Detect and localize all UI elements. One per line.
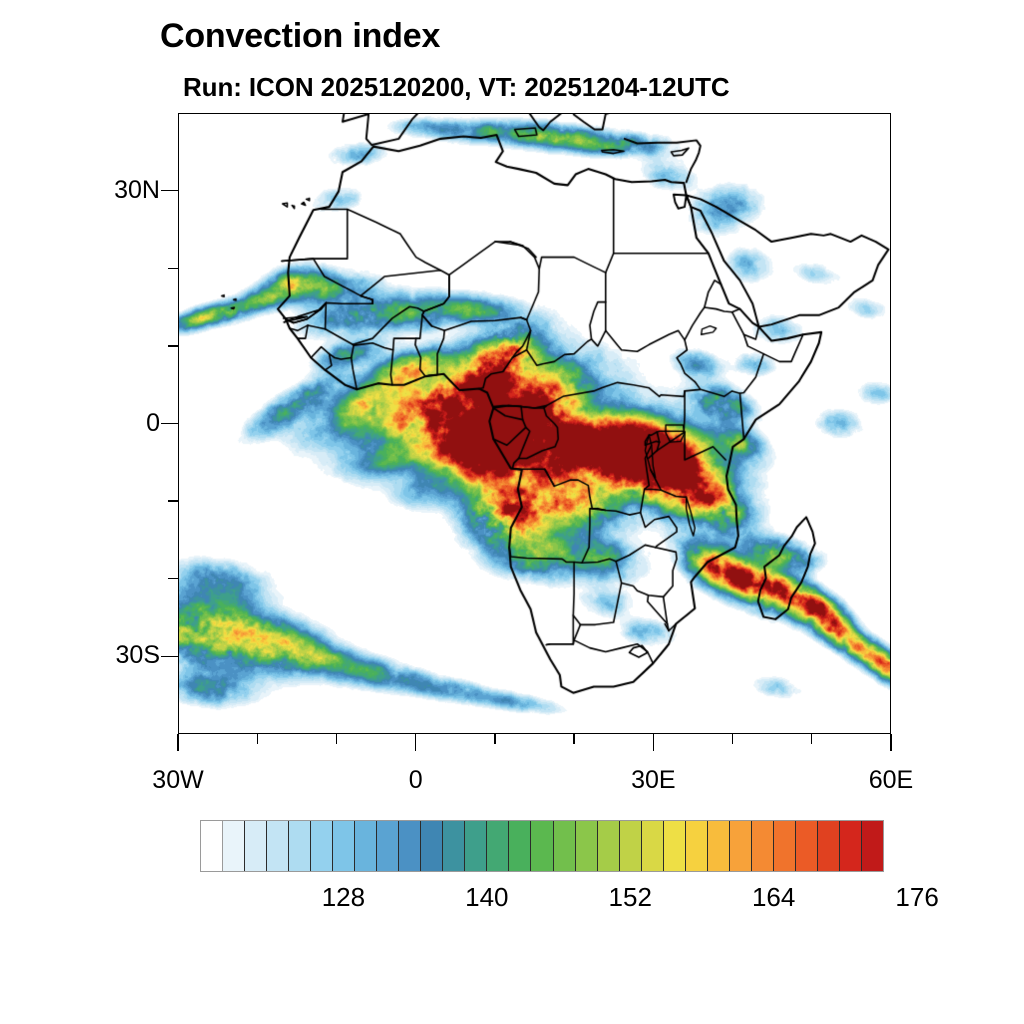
y-axis-label: 0 xyxy=(60,409,160,438)
colorbar-cell xyxy=(311,821,333,871)
y-tick-major xyxy=(161,423,178,425)
colorbar-cell xyxy=(201,821,223,871)
colorbar-cell xyxy=(840,821,862,871)
colorbar-tick-label: 128 xyxy=(322,882,365,913)
x-tick-minor xyxy=(336,734,337,744)
colorbar-cell xyxy=(333,821,355,871)
colorbar-cell xyxy=(752,821,774,871)
figure-root: Convection index Run: ICON 2025120200, V… xyxy=(0,0,1024,1024)
colorbar-cell xyxy=(443,821,465,871)
y-tick-minor xyxy=(168,268,178,269)
colorbar xyxy=(200,820,884,872)
x-tick-major xyxy=(415,734,417,751)
colorbar-cell xyxy=(245,821,267,871)
colorbar-cell xyxy=(399,821,421,871)
convection-index-raster xyxy=(179,114,890,733)
colorbar-cell xyxy=(730,821,752,871)
colorbar-cell xyxy=(598,821,620,871)
colorbar-cell xyxy=(642,821,664,871)
x-tick-major xyxy=(890,734,892,751)
x-tick-major xyxy=(177,734,179,751)
colorbar-cell xyxy=(465,821,487,871)
colorbar-cell xyxy=(554,821,576,871)
y-axis-label: 30N xyxy=(60,176,160,205)
y-tick-minor xyxy=(168,500,178,501)
colorbar-cell xyxy=(774,821,796,871)
colorbar-cell xyxy=(487,821,509,871)
y-tick-minor xyxy=(168,345,178,346)
y-tick-minor xyxy=(168,578,178,579)
x-tick-minor xyxy=(494,734,495,744)
y-tick-major xyxy=(161,656,178,658)
colorbar-cell xyxy=(796,821,818,871)
colorbar-tick-label: 176 xyxy=(895,882,938,913)
colorbar-cell xyxy=(818,821,840,871)
colorbar-cell xyxy=(686,821,708,871)
x-tick-minor xyxy=(732,734,733,744)
colorbar-tick-label: 152 xyxy=(609,882,652,913)
x-axis-label: 60E xyxy=(821,766,961,795)
colorbar-cell xyxy=(509,821,531,871)
colorbar-tick-labels: 128140152164176188200212224236 xyxy=(200,882,884,916)
colorbar-tick-label: 140 xyxy=(465,882,508,913)
x-tick-minor xyxy=(573,734,574,744)
colorbar-cell xyxy=(664,821,686,871)
colorbar-cell xyxy=(267,821,289,871)
x-tick-minor xyxy=(257,734,258,744)
colorbar-cell xyxy=(421,821,443,871)
colorbar-cell xyxy=(576,821,598,871)
map-plot-area xyxy=(178,113,891,734)
page-title: Convection index xyxy=(160,17,440,56)
colorbar-cell xyxy=(355,821,377,871)
colorbar-cell xyxy=(620,821,642,871)
colorbar-cell xyxy=(862,821,883,871)
x-axis-label: 30E xyxy=(583,766,723,795)
y-tick-major xyxy=(161,190,178,192)
colorbar-tick-label: 164 xyxy=(752,882,795,913)
x-axis-label: 30W xyxy=(108,766,248,795)
y-axis-label: 30S xyxy=(60,641,160,670)
run-valid-time-subtitle: Run: ICON 2025120200, VT: 20251204-12UTC xyxy=(183,72,730,103)
colorbar-cell xyxy=(531,821,553,871)
colorbar-cell xyxy=(377,821,399,871)
colorbar-cell xyxy=(708,821,730,871)
colorbar-cell xyxy=(223,821,245,871)
x-tick-minor xyxy=(811,734,812,744)
x-tick-major xyxy=(653,734,655,751)
colorbar-cell xyxy=(289,821,311,871)
x-axis-label: 0 xyxy=(346,766,486,795)
